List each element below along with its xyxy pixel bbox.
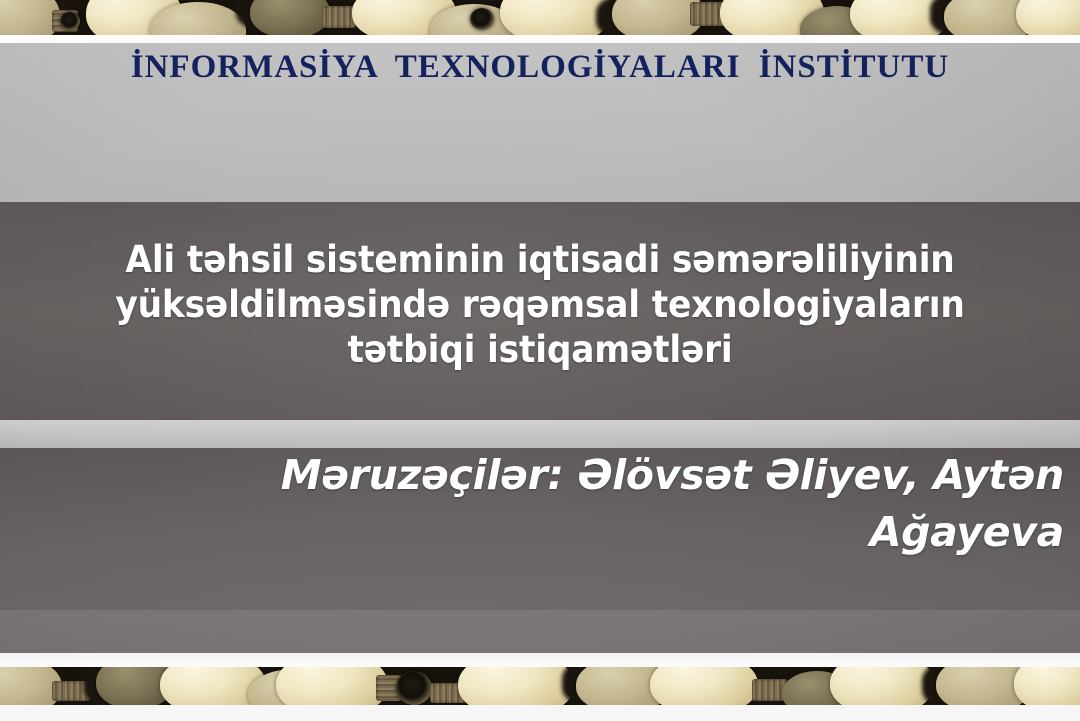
footer-white-gap <box>0 653 1080 667</box>
lightbulb-photo-bottom <box>0 667 1080 705</box>
speakers-line-1: Məruzəçilər: Əlövsət Əliyev, Aytən <box>16 447 1064 504</box>
slide-title-line-1: Ali təhsil sisteminin iqtisadi səmərəlil… <box>38 237 1042 282</box>
slide-title-line-2: yüksəldilməsində rəqəmsal texnologiyalar… <box>38 282 1042 327</box>
lightbulb-photo-top <box>0 0 1080 35</box>
speakers-line-2: Ağayeva <box>16 504 1064 561</box>
divider-band <box>0 420 1080 448</box>
bottom-lightbulb-banner <box>0 667 1080 705</box>
organization-title: İNFORMASİYA TEXNOLOGİYALARI İNSTİTUTU <box>0 49 1080 86</box>
footer-band <box>0 610 1080 653</box>
bottom-white-margin <box>0 705 1080 721</box>
slide-title: Ali təhsil sisteminin iqtisadi səmərəlil… <box>38 237 1042 372</box>
slide-title-line-3: tətbiqi istiqamətləri <box>38 327 1042 372</box>
presentation-slide: İNFORMASİYA TEXNOLOGİYALARI İNSTİTUTU Al… <box>0 0 1080 721</box>
speakers-text: Məruzəçilər: Əlövsət Əliyev, Aytən Ağaye… <box>0 447 1080 561</box>
top-lightbulb-banner <box>0 0 1080 35</box>
